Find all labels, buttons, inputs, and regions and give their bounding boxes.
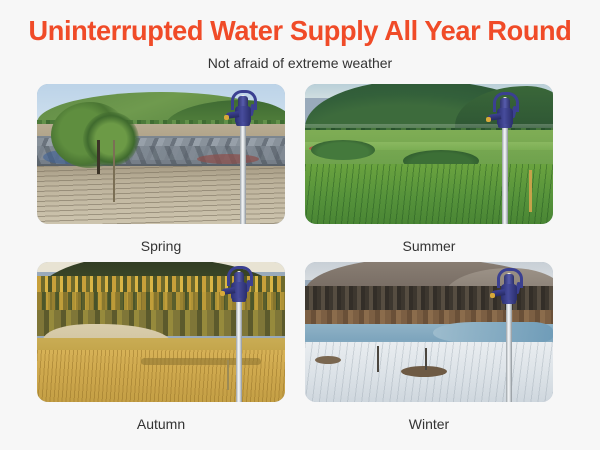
season-card-summer[interactable]: Summer [305,84,553,264]
wooden-post [113,140,115,202]
crop-rows-texture [305,164,553,224]
hydrant-flange [498,124,512,128]
red-roof [197,154,259,164]
hydrant-riser-pipe [506,296,512,402]
hydrant-flange [502,300,516,304]
banner-header: Uninterrupted Water Supply All Year Roun… [0,0,600,73]
season-card-autumn[interactable]: Autumn [37,262,285,442]
caption-summer: Summer [305,224,553,264]
fence-post-2 [425,348,427,370]
hydrant-spout-tip [490,293,495,298]
bush-cluster-left [311,140,375,160]
page-subtitle: Not afraid of extreme weather [0,53,600,73]
photo-winter [305,262,553,402]
exposed-earth-patch [401,366,447,377]
wooden-post [227,360,229,390]
caption-spring: Spring [37,224,285,264]
fence-post [377,346,379,372]
photo-autumn [37,262,285,402]
tree-trunk [97,140,100,174]
photo-spring [37,84,285,224]
page-title: Uninterrupted Water Supply All Year Roun… [9,14,591,48]
hydrant-spout-tip [486,117,491,122]
hydrant-riser-pipe [240,118,246,224]
field-marker-stake [529,170,532,212]
field-track [141,358,261,365]
tree-canopy-right [83,112,139,166]
hydrant-flange [236,122,250,126]
hydrant-riser-pipe [502,120,508,224]
promo-banner: Uninterrupted Water Supply All Year Roun… [0,0,600,450]
season-card-grid: Spring [37,84,563,442]
hydrant-riser-pipe [236,294,242,402]
open-water-patch [433,322,553,344]
hydrant-spout-tip [220,291,225,296]
caption-winter: Winter [305,402,553,442]
hydrant-flange [232,298,246,302]
photo-summer [305,84,553,224]
hydrant-spout-tip [224,115,229,120]
exposed-earth-patch-2 [315,356,341,364]
furrow-texture [37,166,285,224]
caption-autumn: Autumn [37,402,285,442]
season-card-winter[interactable]: Winter [305,262,553,442]
season-card-spring[interactable]: Spring [37,84,285,264]
